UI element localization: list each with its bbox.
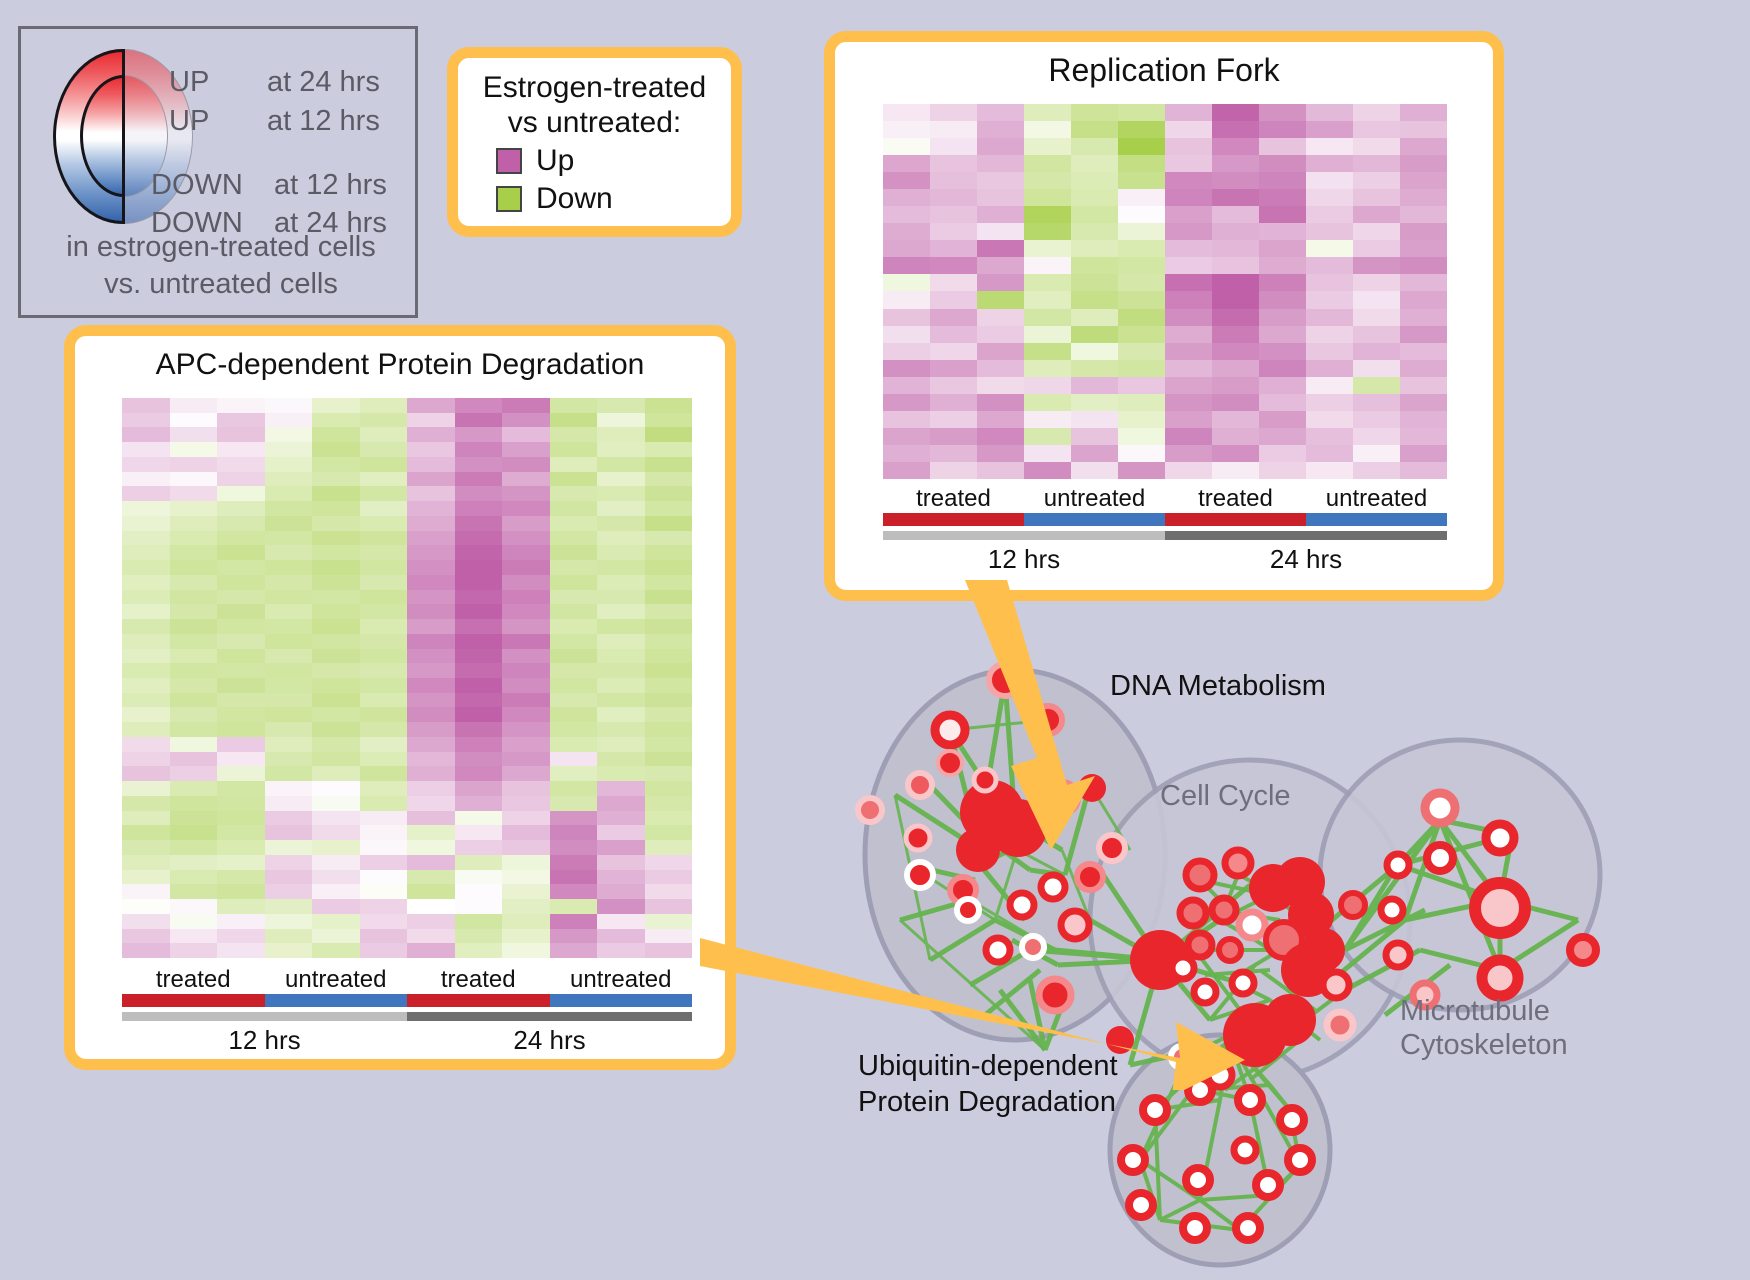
heatmap-cell [407, 752, 455, 767]
heatmap-cell [265, 781, 313, 796]
heatmap-cell [360, 413, 408, 428]
heatmap-cell [122, 501, 170, 516]
heatmap-cell [1212, 172, 1259, 189]
heatmap-cell [407, 649, 455, 664]
heatmap-cell [1165, 326, 1212, 343]
heatmap-cell [645, 825, 693, 840]
heatmap-cell [217, 707, 265, 722]
heatmap-cell [645, 634, 693, 649]
heatmap-cell [1353, 257, 1400, 274]
heatmap-cell [312, 457, 360, 472]
heatmap-cell [502, 943, 550, 958]
heatmap-cell [1259, 138, 1306, 155]
heatmap-cell [1071, 104, 1118, 121]
heatmap-cell [455, 663, 503, 678]
heatmap-cell [360, 545, 408, 560]
heatmap-cell [170, 619, 218, 634]
heatmap-cell [360, 943, 408, 958]
heatmap-cell [597, 929, 645, 944]
heatmap-cell [455, 855, 503, 870]
heatmap-cell [1353, 394, 1400, 411]
heatmap-cell [977, 138, 1024, 155]
heatmap-cell [1024, 309, 1071, 326]
heatmap-cell [407, 899, 455, 914]
heatmap-cell [407, 472, 455, 487]
heatmap-cell [930, 291, 977, 308]
heatmap-cell [1212, 257, 1259, 274]
heatmap-cell [217, 943, 265, 958]
heatmap-cell [1306, 240, 1353, 257]
heatmap-cell [1400, 257, 1447, 274]
heatmap-cell [407, 590, 455, 605]
heatmap-cell [1118, 377, 1165, 394]
heatmap-cell [455, 737, 503, 752]
heatmap-cell [977, 462, 1024, 479]
heatmap-cell [502, 825, 550, 840]
heatmap-cell [265, 545, 313, 560]
group-label: treated [122, 966, 265, 994]
heatmap-cell [407, 560, 455, 575]
heatmap-cell [217, 560, 265, 575]
heatmap-cell [550, 796, 598, 811]
heatmap-cell [550, 457, 598, 472]
heatmap-cell [407, 634, 455, 649]
arrow-apc-to-network [700, 930, 1260, 1090]
heatmap-cell [170, 634, 218, 649]
heatmap-cell [265, 531, 313, 546]
heatmap-cell [1259, 394, 1306, 411]
heatmap-cell [1400, 240, 1447, 257]
heatmap-cell [170, 590, 218, 605]
heatmap-cell [550, 722, 598, 737]
heatmap-cell [170, 899, 218, 914]
heatmap-cell [550, 649, 598, 664]
heatmap-cell [455, 929, 503, 944]
heatmap-cell [1306, 206, 1353, 223]
heatmap-cell [455, 707, 503, 722]
heatmap-cell [1400, 121, 1447, 138]
heatmap-cell [312, 472, 360, 487]
heatmap-cell [312, 575, 360, 590]
node [1186, 1168, 1210, 1192]
heatmap-cell [1118, 155, 1165, 172]
apc-title: APC-dependent Protein Degradation [75, 348, 725, 382]
heatmap-cell [360, 649, 408, 664]
node [1186, 861, 1214, 889]
heatmap-cell [1259, 104, 1306, 121]
heatmap-cell [217, 442, 265, 457]
heatmap-cell [122, 590, 170, 605]
heatmap-cell [550, 855, 598, 870]
heatmap-cell [407, 811, 455, 826]
heatmap-cell [550, 899, 598, 914]
heatmap-cell [1118, 240, 1165, 257]
heatmap-cell [217, 457, 265, 472]
heatmap-cell [312, 825, 360, 840]
heatmap-cell [1212, 445, 1259, 462]
heatmap-cell [1118, 206, 1165, 223]
heatmap-cell [502, 472, 550, 487]
heatmap-cell [645, 752, 693, 767]
heatmap-cell [1118, 411, 1165, 428]
heatmap-cell [1306, 462, 1353, 479]
heatmap-cell [1306, 155, 1353, 172]
heatmap-cell [550, 693, 598, 708]
heatmap-cell [1400, 360, 1447, 377]
heatmap-cell [597, 501, 645, 516]
heatmap-cell [1259, 343, 1306, 360]
node [1482, 960, 1518, 996]
heatmap-cell [502, 929, 550, 944]
heatmap-cell [265, 427, 313, 442]
node [1387, 854, 1409, 876]
heatmap-cell [122, 722, 170, 737]
heatmap-cell [360, 722, 408, 737]
legend-key-up: Up [496, 144, 731, 178]
heatmap-cell [312, 899, 360, 914]
heatmap-cell [455, 442, 503, 457]
heatmap-cell [930, 428, 977, 445]
heatmap-cell [1259, 121, 1306, 138]
heatmap-cell [930, 445, 977, 462]
heatmap-cell [597, 914, 645, 929]
heatmap-cell [645, 914, 693, 929]
node [1212, 898, 1236, 922]
heatmap-cell [645, 737, 693, 752]
heatmap-cell [312, 619, 360, 634]
heatmap-cell [502, 855, 550, 870]
heatmap-cell [597, 855, 645, 870]
heatmap-cell [122, 413, 170, 428]
heatmap-cell [265, 825, 313, 840]
heatmap-cell [1118, 138, 1165, 155]
heatmap-cell [1212, 394, 1259, 411]
group-label: treated [883, 485, 1024, 513]
group-label: untreated [550, 966, 693, 994]
heatmap-cell [312, 693, 360, 708]
heatmap-cell [265, 472, 313, 487]
heatmap-cell [360, 737, 408, 752]
heatmap-cell [502, 722, 550, 737]
heatmap-cell [645, 619, 693, 634]
heatmap-cell [883, 155, 930, 172]
heatmap-cell [1165, 172, 1212, 189]
heatmap-cell [1071, 377, 1118, 394]
node [1323, 972, 1349, 998]
heatmap-cell [1118, 257, 1165, 274]
heatmap-cell [217, 575, 265, 590]
heatmap-cell [407, 442, 455, 457]
heatmap-cell [265, 457, 313, 472]
heatmap-cell [170, 560, 218, 575]
heatmap-cell [1353, 360, 1400, 377]
node [1225, 850, 1251, 876]
heatmap-cell [407, 929, 455, 944]
heatmap-cell [170, 870, 218, 885]
heatmap-cell [645, 663, 693, 678]
heatmap-cell [217, 486, 265, 501]
heatmap-cell [360, 560, 408, 575]
heatmap-cell [312, 398, 360, 413]
heatmap-cell [265, 840, 313, 855]
heatmap-cell [122, 560, 170, 575]
heatmap-cell [550, 486, 598, 501]
node [1427, 845, 1453, 871]
heatmap-cell [170, 575, 218, 590]
heatmap-cell [883, 206, 930, 223]
heatmap-cell [1071, 240, 1118, 257]
node [1386, 943, 1410, 967]
heatmap-cell [217, 825, 265, 840]
heatmap-cell [883, 343, 930, 360]
heatmap-cell [930, 343, 977, 360]
heatmap-cell [122, 531, 170, 546]
heatmap-cell [360, 398, 408, 413]
heatmap-cell [1071, 189, 1118, 206]
heatmap-cell [360, 516, 408, 531]
heatmap-cell [1071, 326, 1118, 343]
heatmap-cell [455, 766, 503, 781]
heatmap-cell [265, 929, 313, 944]
heatmap-cell [1118, 274, 1165, 291]
heatmap-cell [170, 442, 218, 457]
heatmap-cell [122, 825, 170, 840]
heatmap-cell [645, 442, 693, 457]
up-down-legend-panel: Estrogen-treated vs untreated: Up Down [447, 47, 742, 237]
heatmap-cell [265, 870, 313, 885]
heatmap-cell [1400, 274, 1447, 291]
heatmap-cell [597, 707, 645, 722]
heatmap-cell [312, 604, 360, 619]
heatmap-cell [1353, 155, 1400, 172]
heatmap-cell [645, 840, 693, 855]
heatmap-cell [597, 663, 645, 678]
heatmap-cell [1024, 206, 1071, 223]
heatmap-cell [1118, 189, 1165, 206]
heatmap-cell [265, 501, 313, 516]
heatmap-cell [883, 326, 930, 343]
heatmap-cell [217, 884, 265, 899]
heatmap-cell [407, 663, 455, 678]
heatmap-cell [977, 155, 1024, 172]
heatmap-cell [1071, 138, 1118, 155]
heatmap-cell [550, 811, 598, 826]
heatmap-cell [312, 590, 360, 605]
heatmap-cell [360, 811, 408, 826]
heatmap-cell [1353, 172, 1400, 189]
heatmap-cell [502, 457, 550, 472]
heatmap-cell [407, 427, 455, 442]
heatmap-cell [1353, 445, 1400, 462]
heatmap-cell [122, 604, 170, 619]
heatmap-cell [883, 189, 930, 206]
heatmap-cell [550, 619, 598, 634]
heatmap-cell [502, 604, 550, 619]
node [1327, 1012, 1353, 1038]
node [1381, 899, 1403, 921]
heatmap-cell [645, 811, 693, 826]
heatmap-cell [502, 619, 550, 634]
heatmap-cell [550, 516, 598, 531]
heatmap-cell [455, 943, 503, 958]
heatmap-cell [1071, 257, 1118, 274]
heatmap-cell [265, 604, 313, 619]
heatmap-cell [407, 516, 455, 531]
caption-line-1: in estrogen-treated cells [21, 229, 421, 266]
heatmap-cell [883, 291, 930, 308]
heatmap-cell [1118, 121, 1165, 138]
panel-apc-degradation: APC-dependent Protein Degradation treate… [64, 325, 736, 1070]
heatmap-cell [1024, 326, 1071, 343]
heatmap-cell [217, 531, 265, 546]
heatmap-cell [455, 427, 503, 442]
heatmap-cell [455, 884, 503, 899]
heatmap-cell [1400, 445, 1447, 462]
heatmap-cell [1071, 445, 1118, 462]
heatmap-cell [1118, 223, 1165, 240]
heatmap-cell [265, 678, 313, 693]
apc-group-labels: treateduntreatedtreateduntreated [122, 966, 692, 994]
legend-time-2: at 12 hrs [274, 169, 387, 202]
heatmap-cell [645, 457, 693, 472]
heatmap-cell [170, 840, 218, 855]
replication-fork-axis: treateduntreatedtreateduntreated 12 hrs2… [883, 485, 1447, 575]
heatmap-cell [1400, 309, 1447, 326]
group-bar [122, 994, 265, 1007]
heatmap-cell [1353, 428, 1400, 445]
heatmap-cell [170, 722, 218, 737]
heatmap-cell [455, 575, 503, 590]
time-label: 12 hrs [883, 540, 1165, 575]
heatmap-cell [1353, 240, 1400, 257]
heatmap-cell [312, 649, 360, 664]
heatmap-cell [502, 545, 550, 560]
heatmap-cell [1165, 138, 1212, 155]
heatmap-cell [1118, 309, 1165, 326]
heatmap-cell [597, 766, 645, 781]
heatmap-cell [930, 377, 977, 394]
label-cell-cycle: Cell Cycle [1160, 780, 1291, 812]
heatmap-cell [597, 811, 645, 826]
heatmap-cell [1118, 428, 1165, 445]
heatmap-cell [502, 634, 550, 649]
heatmap-cell [883, 172, 930, 189]
heatmap-cell [645, 943, 693, 958]
heatmap-cell [1259, 172, 1306, 189]
heatmap-cell [502, 678, 550, 693]
heatmap-cell [1024, 411, 1071, 428]
heatmap-cell [122, 427, 170, 442]
heatmap-cell [170, 825, 218, 840]
heatmap-cell [312, 796, 360, 811]
heatmap-cell [217, 472, 265, 487]
heatmap-cell [265, 899, 313, 914]
heatmap-cell [1024, 223, 1071, 240]
heatmap-cell [217, 693, 265, 708]
heatmap-cell [645, 560, 693, 575]
down-label: Down [536, 182, 613, 216]
heatmap-cell [645, 722, 693, 737]
heatmap-cell [645, 649, 693, 664]
heatmap-cell [1165, 223, 1212, 240]
heatmap-cell [550, 678, 598, 693]
heatmap-cell [502, 413, 550, 428]
rf-time-labels: 12 hrs24 hrs [883, 540, 1447, 575]
heatmap-cell [312, 943, 360, 958]
node [1341, 893, 1365, 917]
heatmap-cell [1024, 428, 1071, 445]
down-color-swatch [496, 186, 522, 212]
caption-line-2: vs. untreated cells [21, 266, 421, 303]
heatmap-cell [312, 678, 360, 693]
heatmap-cell [1306, 121, 1353, 138]
heatmap-cell [455, 545, 503, 560]
time-label: 24 hrs [1165, 540, 1447, 575]
heatmap-cell [217, 781, 265, 796]
heatmap-cell [455, 413, 503, 428]
heatmap-cell [1118, 326, 1165, 343]
heatmap-cell [1165, 257, 1212, 274]
heatmap-cell [1400, 206, 1447, 223]
heatmap-cell [360, 486, 408, 501]
heatmap-cell [502, 752, 550, 767]
heatmap-cell [170, 398, 218, 413]
heatmap-cell [1259, 274, 1306, 291]
heatmap-cell [407, 501, 455, 516]
heatmap-cell [1118, 291, 1165, 308]
heatmap-cell [645, 604, 693, 619]
heatmap-cell [977, 428, 1024, 445]
heatmap-cell [597, 825, 645, 840]
heatmap-cell [122, 545, 170, 560]
heatmap-cell [312, 413, 360, 428]
heatmap-cell [977, 240, 1024, 257]
heatmap-cell [360, 501, 408, 516]
heatmap-cell [122, 398, 170, 413]
heatmap-cell [1400, 155, 1447, 172]
heatmap-cell [170, 943, 218, 958]
legend-state-0: UP [169, 66, 209, 99]
heatmap-cell [360, 575, 408, 590]
heatmap-cell [217, 766, 265, 781]
heatmap-cell [122, 575, 170, 590]
heatmap-cell [597, 575, 645, 590]
center-divider [122, 49, 125, 224]
heatmap-cell [265, 884, 313, 899]
heatmap-cell [1353, 206, 1400, 223]
heatmap-cell [360, 472, 408, 487]
heatmap-cell [550, 884, 598, 899]
heatmap-cell [455, 722, 503, 737]
heatmap-cell [597, 634, 645, 649]
heatmap-cell [455, 811, 503, 826]
heatmap-cell [170, 811, 218, 826]
heatmap-cell [122, 678, 170, 693]
heatmap-cell [1400, 326, 1447, 343]
heatmap-cell [1259, 240, 1306, 257]
node [1475, 883, 1525, 933]
heatmap-cell [170, 516, 218, 531]
heatmap-cell [1306, 394, 1353, 411]
heatmap-cell [407, 545, 455, 560]
heatmap-cell [455, 501, 503, 516]
heatmap-cell [1024, 274, 1071, 291]
heatmap-cell [502, 531, 550, 546]
node [1238, 1088, 1262, 1112]
heatmap-cell [312, 811, 360, 826]
heatmap-cell [360, 663, 408, 678]
circle-legend-caption: in estrogen-treated cells vs. untreated … [21, 229, 421, 303]
